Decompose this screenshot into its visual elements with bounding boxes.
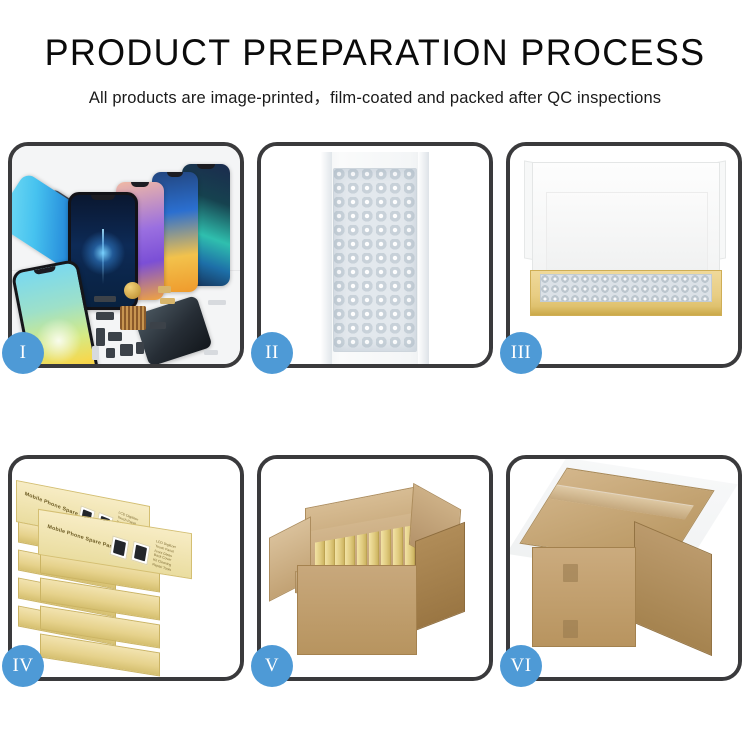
process-step-1[interactable]: I (8, 142, 244, 368)
sealed-carton-front-panel (532, 547, 636, 647)
yellow-box-tray (530, 270, 722, 316)
part-antenna-strip (150, 322, 166, 329)
bubble-pouch (321, 152, 429, 364)
step-badge-2: II (251, 332, 293, 374)
process-step-3[interactable]: III (506, 142, 742, 368)
part-flex-cable-a (158, 286, 171, 293)
pouch-seam-right (418, 152, 429, 364)
page-header: PRODUCT PREPARATION PROCESS All products… (0, 0, 750, 108)
step-3-image (510, 146, 738, 364)
box-stack: Mobile Phone Spare Parts LCD Digitizer T… (12, 459, 240, 677)
step-badge-6: VI (500, 645, 542, 687)
page-subtitle: All products are image-printed，film-coat… (0, 84, 750, 108)
foam-sheet (546, 192, 708, 272)
process-step-6[interactable]: VI (506, 455, 742, 681)
process-step-grid: I II III (8, 142, 742, 681)
process-step-5[interactable]: V (257, 455, 493, 681)
step-badge-4: IV (2, 645, 44, 687)
step-badge-3: III (500, 332, 542, 374)
pouch-seam-left (321, 152, 332, 364)
part-gold-coil (124, 282, 141, 299)
part-chip-array (120, 306, 146, 330)
page-title: PRODUCT PREPARATION PROCESS (11, 34, 739, 71)
step-4-image: Mobile Phone Spare Parts LCD Digitizer T… (12, 459, 240, 677)
tray-front-lip (531, 306, 721, 315)
process-step-2[interactable]: II (257, 142, 493, 368)
part-screwdriver (204, 350, 218, 355)
process-step-4[interactable]: Mobile Phone Spare Parts LCD Digitizer T… (8, 455, 244, 681)
bubble-wrap-texture (333, 168, 417, 352)
part-bracket-a (96, 328, 105, 346)
part-tool-tweezer (208, 300, 226, 305)
step-badge-1: I (2, 332, 44, 374)
step-1-image (12, 146, 240, 364)
part-button-set (106, 348, 115, 358)
part-bracket-b (108, 332, 122, 341)
step-6-image (510, 459, 738, 677)
step-2-image (261, 146, 489, 364)
carton-front-panel (297, 565, 417, 655)
carton-seam-tab-upper (563, 564, 578, 582)
carton-side-panel (415, 522, 465, 631)
part-speaker-mesh (94, 296, 116, 302)
step-badge-5: V (251, 645, 293, 687)
box-thumb-front-a (110, 535, 130, 560)
part-camera-module (120, 344, 133, 356)
step-5-image (261, 459, 489, 677)
part-sim-tray (92, 346, 99, 360)
box-brand-text-front: Mobile Phone Spare Parts (47, 524, 117, 552)
carton-seam-tab-lower (563, 620, 578, 638)
part-flex-cable-b (160, 298, 175, 304)
part-vibrator (136, 342, 144, 354)
box-thumb-front-b (131, 541, 151, 566)
box-checklist-front: LCD Digitizer Touch Panel Front Glass Ba… (152, 540, 176, 573)
screen-burst (80, 230, 126, 276)
part-connector-a (96, 312, 114, 320)
tray-bubble-contents (540, 274, 712, 302)
